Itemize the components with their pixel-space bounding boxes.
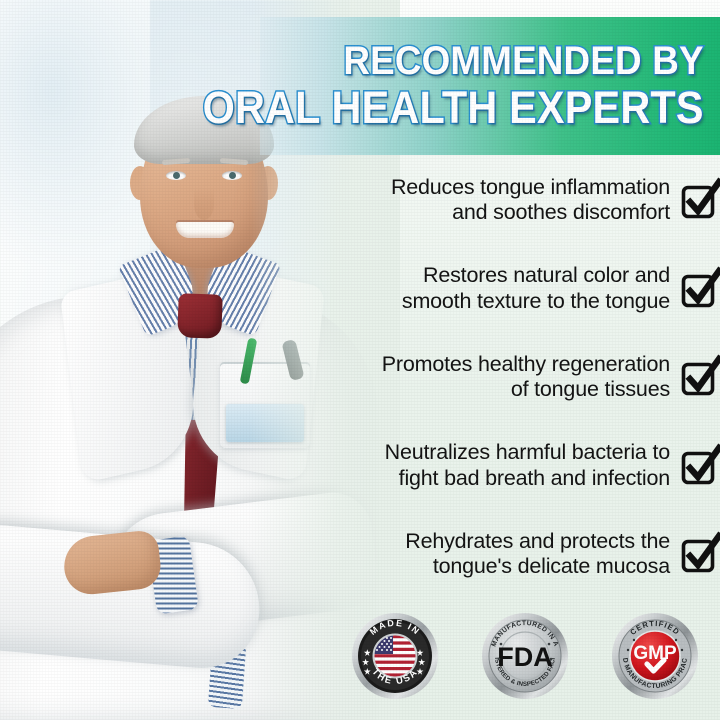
headline: RECOMMENDED BY ORAL HEALTH EXPERTS — [262, 20, 714, 152]
seal-center-text: GMP — [633, 643, 677, 664]
benefit-line-2: of tongue tissues — [382, 377, 670, 402]
checked-checkbox-icon — [680, 269, 720, 309]
benefits-list: Reduces tongue inflammation and soothes … — [286, 162, 720, 592]
benefit-item: Neutralizes harmful bacteria to fight ba… — [286, 428, 720, 504]
gmp-certified-seal: CERTIFIED GOOD MANUFACTURING PRACTICE GM… — [611, 612, 699, 700]
checked-checkbox-icon — [680, 446, 720, 486]
benefit-text: Promotes healthy regeneration of tongue … — [382, 352, 670, 403]
promo-poster: RECOMMENDED BY ORAL HEALTH EXPERTS Reduc… — [0, 0, 720, 720]
pupil-right — [229, 172, 236, 179]
headline-line-2: ORAL HEALTH EXPERTS — [203, 84, 704, 131]
benefit-item: Restores natural color and smooth textur… — [286, 251, 720, 327]
nose — [194, 188, 214, 220]
benefit-item: Promotes healthy regeneration of tongue … — [286, 339, 720, 415]
benefit-line-2: tongue's delicate mucosa — [405, 554, 670, 579]
seal-center-text: FDA — [497, 642, 553, 672]
benefit-text: Restores natural color and smooth textur… — [402, 263, 670, 314]
benefit-text: Rehydrates and protects the tongue's del… — [405, 529, 670, 580]
benefit-text: Neutralizes harmful bacteria to fight ba… — [385, 440, 670, 491]
checked-checkbox-icon — [680, 534, 720, 574]
benefit-line-1: Rehydrates and protects the — [405, 529, 670, 554]
benefit-text: Reduces tongue inflammation and soothes … — [391, 175, 670, 226]
benefit-item: Reduces tongue inflammation and soothes … — [286, 162, 720, 238]
headline-line-1: RECOMMENDED BY — [344, 40, 704, 82]
benefit-item: Rehydrates and protects the tongue's del… — [286, 516, 720, 592]
checked-checkbox-icon — [680, 180, 720, 220]
benefit-line-2: and soothes discomfort — [391, 200, 670, 225]
necktie-knot — [177, 293, 223, 339]
benefit-line-1: Reduces tongue inflammation — [391, 175, 670, 200]
fda-registered-seal: MANUFACTURED IN A REGISTERED & INSPECTED… — [481, 612, 569, 700]
benefit-line-1: Neutralizes harmful bacteria to — [385, 440, 670, 465]
pupil-left — [173, 172, 180, 179]
checked-checkbox-icon — [680, 357, 720, 397]
benefit-line-1: Restores natural color and — [402, 263, 670, 288]
smile — [176, 222, 234, 238]
benefit-line-2: fight bad breath and infection — [385, 466, 670, 491]
trust-seals: MADE IN THE USA — [330, 600, 720, 712]
made-in-usa-seal: MADE IN THE USA — [351, 612, 439, 700]
benefit-line-2: smooth texture to the tongue — [402, 289, 670, 314]
benefit-line-1: Promotes healthy regeneration — [382, 352, 670, 377]
